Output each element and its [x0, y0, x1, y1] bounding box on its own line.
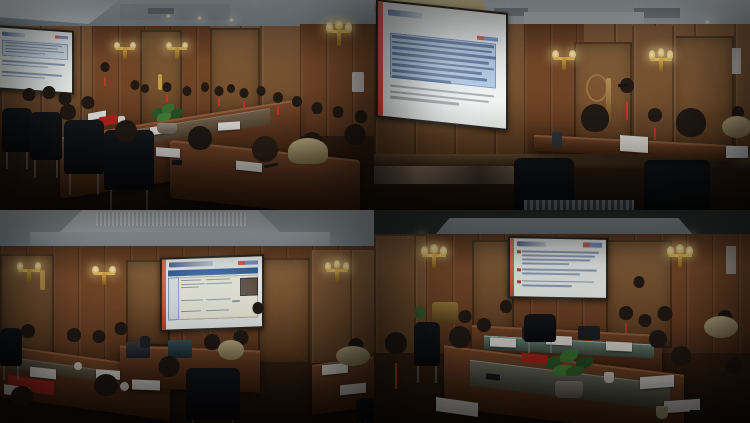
fur-hood: [218, 340, 244, 360]
chair: [414, 322, 440, 366]
microphone: [140, 336, 150, 348]
projection-screen[interactable]: [376, 0, 508, 131]
chair: [186, 368, 240, 420]
wall-sconce: [648, 48, 674, 76]
marble-skirting: [374, 166, 524, 184]
chair: [644, 160, 710, 210]
attendee-back: [238, 136, 292, 210]
slide: [378, 1, 506, 128]
microphone: [578, 326, 600, 340]
wall-sconce: [16, 260, 42, 286]
photo-bottom-right[interactable]: [374, 210, 750, 423]
wall-sconce: [325, 20, 353, 50]
projector-grille: [524, 200, 634, 210]
documents: [620, 135, 648, 153]
attendee: [234, 88, 253, 124]
fur-hood: [288, 138, 328, 164]
attendee: [60, 328, 88, 380]
attendee: [660, 346, 702, 422]
small-plant: [414, 306, 426, 318]
attendee-back: [566, 104, 624, 210]
chair: [356, 398, 374, 422]
wall-switch-plate: [726, 246, 736, 274]
fur-hood: [336, 346, 370, 366]
photo-top-left[interactable]: [0, 0, 374, 210]
projection-screen[interactable]: [508, 236, 608, 300]
ceiling-vent: [148, 8, 174, 14]
slide: [162, 256, 262, 329]
downlight: [196, 16, 203, 20]
tea-cup: [604, 372, 614, 383]
door-inlay: [586, 74, 608, 102]
eyeglasses: [618, 84, 627, 87]
wall-sconce: [666, 244, 694, 272]
slide: [0, 27, 72, 92]
ceiling-soffit: [120, 4, 230, 20]
attendee: [268, 92, 288, 132]
attendee-back: [52, 104, 84, 160]
documents: [726, 146, 748, 158]
photo-top-right[interactable]: [374, 0, 750, 210]
travel-mug: [552, 132, 562, 148]
attendee: [718, 358, 750, 422]
projection-screen[interactable]: [0, 25, 74, 94]
attendee-back: [176, 126, 224, 210]
downlight: [228, 18, 235, 22]
attendee: [136, 84, 153, 116]
wall-sconce: [114, 40, 136, 62]
ceiling-grille: [96, 212, 246, 226]
photo-bottom-left[interactable]: [0, 210, 374, 423]
chair: [0, 328, 22, 366]
attendee-back: [104, 120, 148, 196]
fur-hood: [704, 316, 738, 338]
wall-switch-plate: [732, 48, 741, 74]
attendee: [108, 322, 134, 374]
chair: [524, 314, 556, 342]
attendee-back: [148, 356, 190, 422]
potted-plant: [544, 348, 594, 398]
wall-sconce: [166, 40, 188, 62]
attendee-back: [334, 124, 374, 210]
slide: [510, 238, 606, 298]
attendee-back: [0, 386, 44, 422]
fur-hood: [722, 116, 750, 138]
wall-sconce: [552, 48, 576, 74]
attendee-back: [82, 374, 130, 422]
attendee: [158, 82, 176, 116]
attendee: [178, 86, 196, 119]
wall-sconce: [420, 244, 448, 272]
wall-switch-plate: [352, 72, 364, 92]
wall-sconce: [324, 260, 350, 286]
downlight: [165, 14, 172, 18]
wall-sconce: [92, 264, 116, 288]
photo-collage: [0, 0, 750, 423]
